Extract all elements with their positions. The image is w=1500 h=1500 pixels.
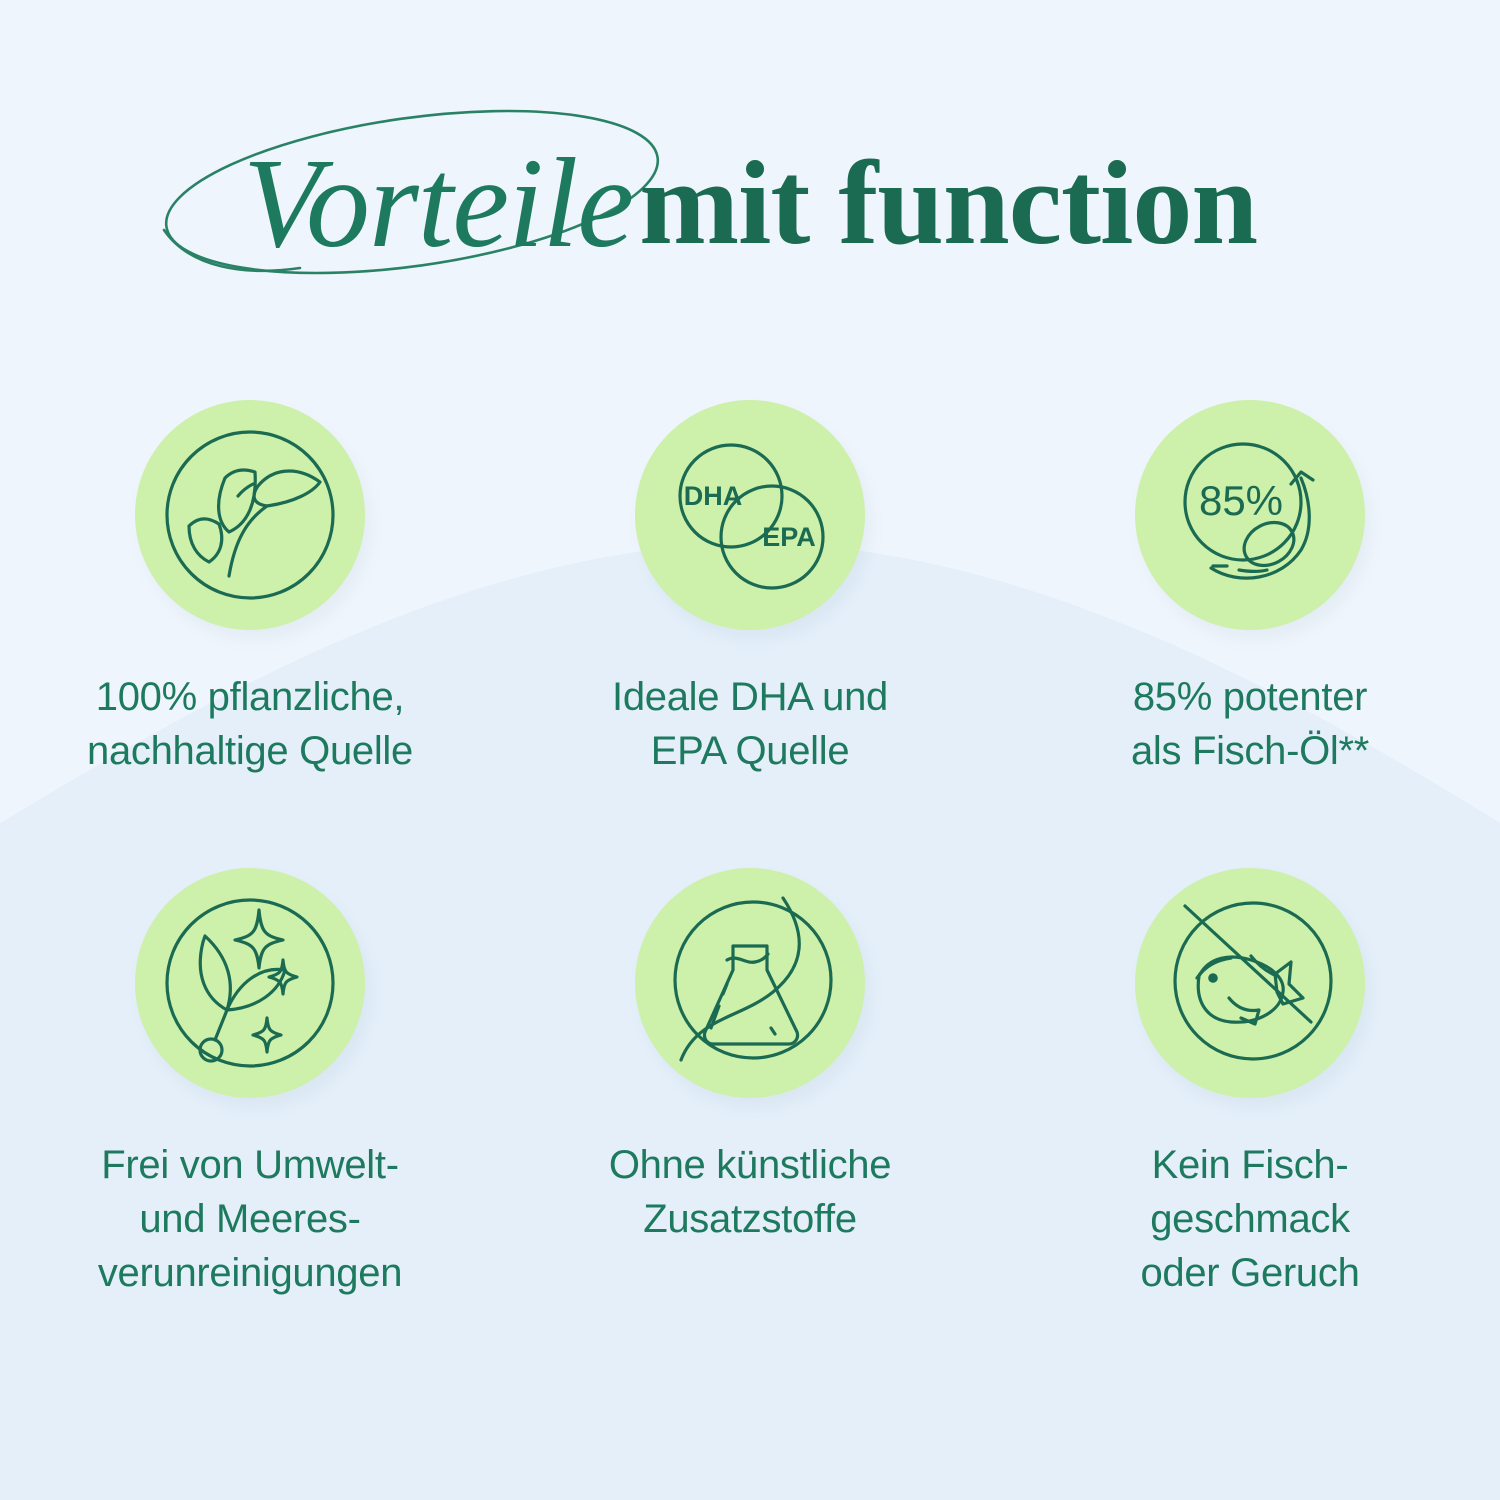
benefit-item-no-additives: Ohne künstliche Zusatzstoffe bbox=[500, 868, 1000, 1300]
sprout-sparkle-icon bbox=[155, 888, 345, 1078]
flask-no-additives-icon bbox=[655, 888, 845, 1078]
caption-no-fish-taste: Kein Fisch- geschmack oder Geruch bbox=[1140, 1138, 1359, 1300]
benefit-item-plant-source: 100% pflanzliche, nachhaltige Quelle bbox=[0, 400, 500, 778]
badge-no-pollutants bbox=[135, 868, 365, 1098]
badge-plant-source bbox=[135, 400, 365, 630]
caption-no-additives: Ohne künstliche Zusatzstoffe bbox=[609, 1138, 891, 1246]
caption-line: und Meeres- bbox=[98, 1192, 402, 1246]
page-title: Vorteile mit function bbox=[0, 108, 1500, 298]
caption-line: nachhaltige Quelle bbox=[87, 724, 413, 778]
caption-potency: 85% potenter als Fisch-Öl** bbox=[1131, 670, 1369, 778]
badge-potency: 85% bbox=[1135, 400, 1365, 630]
no-fish-icon bbox=[1155, 888, 1345, 1078]
badge-no-fish-taste bbox=[1135, 868, 1365, 1098]
badge-no-additives bbox=[635, 868, 865, 1098]
caption-no-pollutants: Frei von Umwelt- und Meeres- verunreinig… bbox=[98, 1138, 402, 1300]
badge-dha-epa: DHA EPA bbox=[635, 400, 865, 630]
title-bold-words: mit function bbox=[639, 143, 1257, 263]
caption-plant-source: 100% pflanzliche, nachhaltige Quelle bbox=[87, 670, 413, 778]
benefit-item-dha-epa: DHA EPA Ideale DHA und EPA Quelle bbox=[500, 400, 1000, 778]
benefit-item-no-fish-taste: Kein Fisch- geschmack oder Geruch bbox=[1000, 868, 1500, 1300]
percent-label: 85% bbox=[1199, 477, 1283, 524]
caption-line: verunreinigungen bbox=[98, 1246, 402, 1300]
venn-label-right: EPA bbox=[762, 522, 816, 552]
caption-line: oder Geruch bbox=[1140, 1246, 1359, 1300]
leaf-sprig-icon bbox=[155, 420, 345, 610]
venn-diagram-icon: DHA EPA bbox=[655, 420, 845, 610]
benefit-item-no-pollutants: Frei von Umwelt- und Meeres- verunreinig… bbox=[0, 868, 500, 1300]
title-script-word: Vorteile bbox=[243, 139, 639, 267]
caption-line: geschmack bbox=[1140, 1192, 1359, 1246]
caption-line: 100% pflanzliche, bbox=[87, 670, 413, 724]
caption-line: Ideale DHA und bbox=[612, 670, 888, 724]
caption-line: 85% potenter bbox=[1131, 670, 1369, 724]
benefit-item-potency: 85% 85% potenter als Fisch-Öl** bbox=[1000, 400, 1500, 778]
percent-arrow-icon: 85% bbox=[1155, 420, 1345, 610]
caption-line: Kein Fisch- bbox=[1140, 1138, 1359, 1192]
infographic-page: Vorteile mit function bbox=[0, 0, 1500, 1500]
caption-line: Frei von Umwelt- bbox=[98, 1138, 402, 1192]
caption-line: Ohne künstliche bbox=[609, 1138, 891, 1192]
benefits-grid: 100% pflanzliche, nachhaltige Quelle DHA… bbox=[0, 400, 1500, 1300]
caption-dha-epa: Ideale DHA und EPA Quelle bbox=[612, 670, 888, 778]
caption-line: als Fisch-Öl** bbox=[1131, 724, 1369, 778]
caption-line: Zusatzstoffe bbox=[609, 1192, 891, 1246]
caption-line: EPA Quelle bbox=[612, 724, 888, 778]
venn-label-left: DHA bbox=[684, 481, 743, 511]
